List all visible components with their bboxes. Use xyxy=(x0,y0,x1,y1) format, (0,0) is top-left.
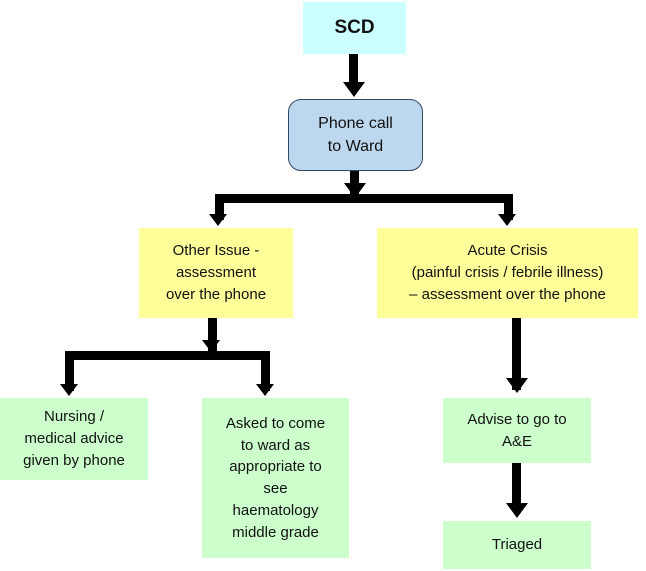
node-acute-crisis: Acute Crisis (painful crisis / febrile i… xyxy=(377,228,638,318)
arrow-down-icon-to-asked-to-come xyxy=(256,384,274,396)
node-phone-call-to-ward: Phone call to Ward xyxy=(288,99,423,171)
node-other-issue: Other Issue - assessment over the phone xyxy=(139,228,293,318)
arrow-down-icon-phone-call-stem xyxy=(344,183,366,198)
arrow-down-icon-to-triaged xyxy=(506,503,528,518)
connector-scd-to-phone-call xyxy=(349,54,358,84)
node-triaged: Triaged xyxy=(443,521,591,569)
node-nursing-medical-advice: Nursing / medical advice given by phone xyxy=(0,398,148,480)
node-advise-to-go-to-ae: Advise to go to A&E xyxy=(443,398,591,463)
arrow-down-icon-to-other-issue xyxy=(209,214,227,226)
flowchart-canvas: SCD Phone call to Ward Other Issue - ass… xyxy=(0,0,646,571)
arrow-down-icon-to-acute-crisis xyxy=(498,214,516,226)
arrow-down-icon-scd-to-phone-call xyxy=(343,82,365,97)
node-asked-to-come-to-ward: Asked to come to ward as appropriate to … xyxy=(202,398,349,558)
arrow-down-icon-other-issue-stem xyxy=(202,340,220,352)
node-scd: SCD xyxy=(303,2,406,54)
connector-split-bar-other-issue-left xyxy=(65,351,217,360)
arrow-down-icon-to-advise-ae xyxy=(506,378,528,393)
arrow-down-icon-to-nursing-advice xyxy=(60,384,78,396)
